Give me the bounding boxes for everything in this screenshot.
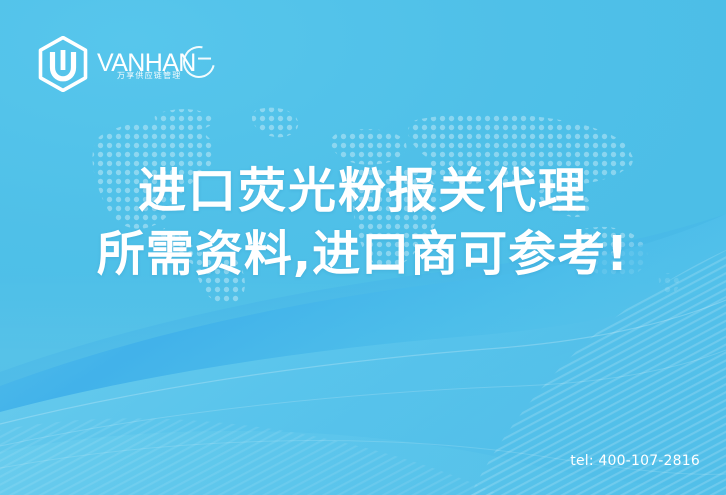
logo-g-circle-icon (177, 40, 221, 84)
brand-logo[interactable]: VANHAN 万享供应链管理 (38, 36, 215, 92)
headline-line-1: 进口荧光粉报关代理 (0, 160, 726, 223)
logo-subtitle: 万享供应链管理 (117, 70, 181, 81)
logo-wordmark: VANHAN 万享供应链管理 (97, 42, 215, 86)
headline-line-2: 所需资料,进口商可参考! (0, 223, 726, 286)
headline-block: 进口荧光粉报关代理 所需资料,进口商可参考! (0, 160, 726, 287)
hexagon-u-icon (38, 36, 88, 92)
contact-phone[interactable]: tel: 400-107-2816 (570, 453, 700, 469)
promo-banner: VANHAN 万享供应链管理 进口荧光粉报关代理 所需资料,进口商可参考! te… (0, 0, 726, 495)
